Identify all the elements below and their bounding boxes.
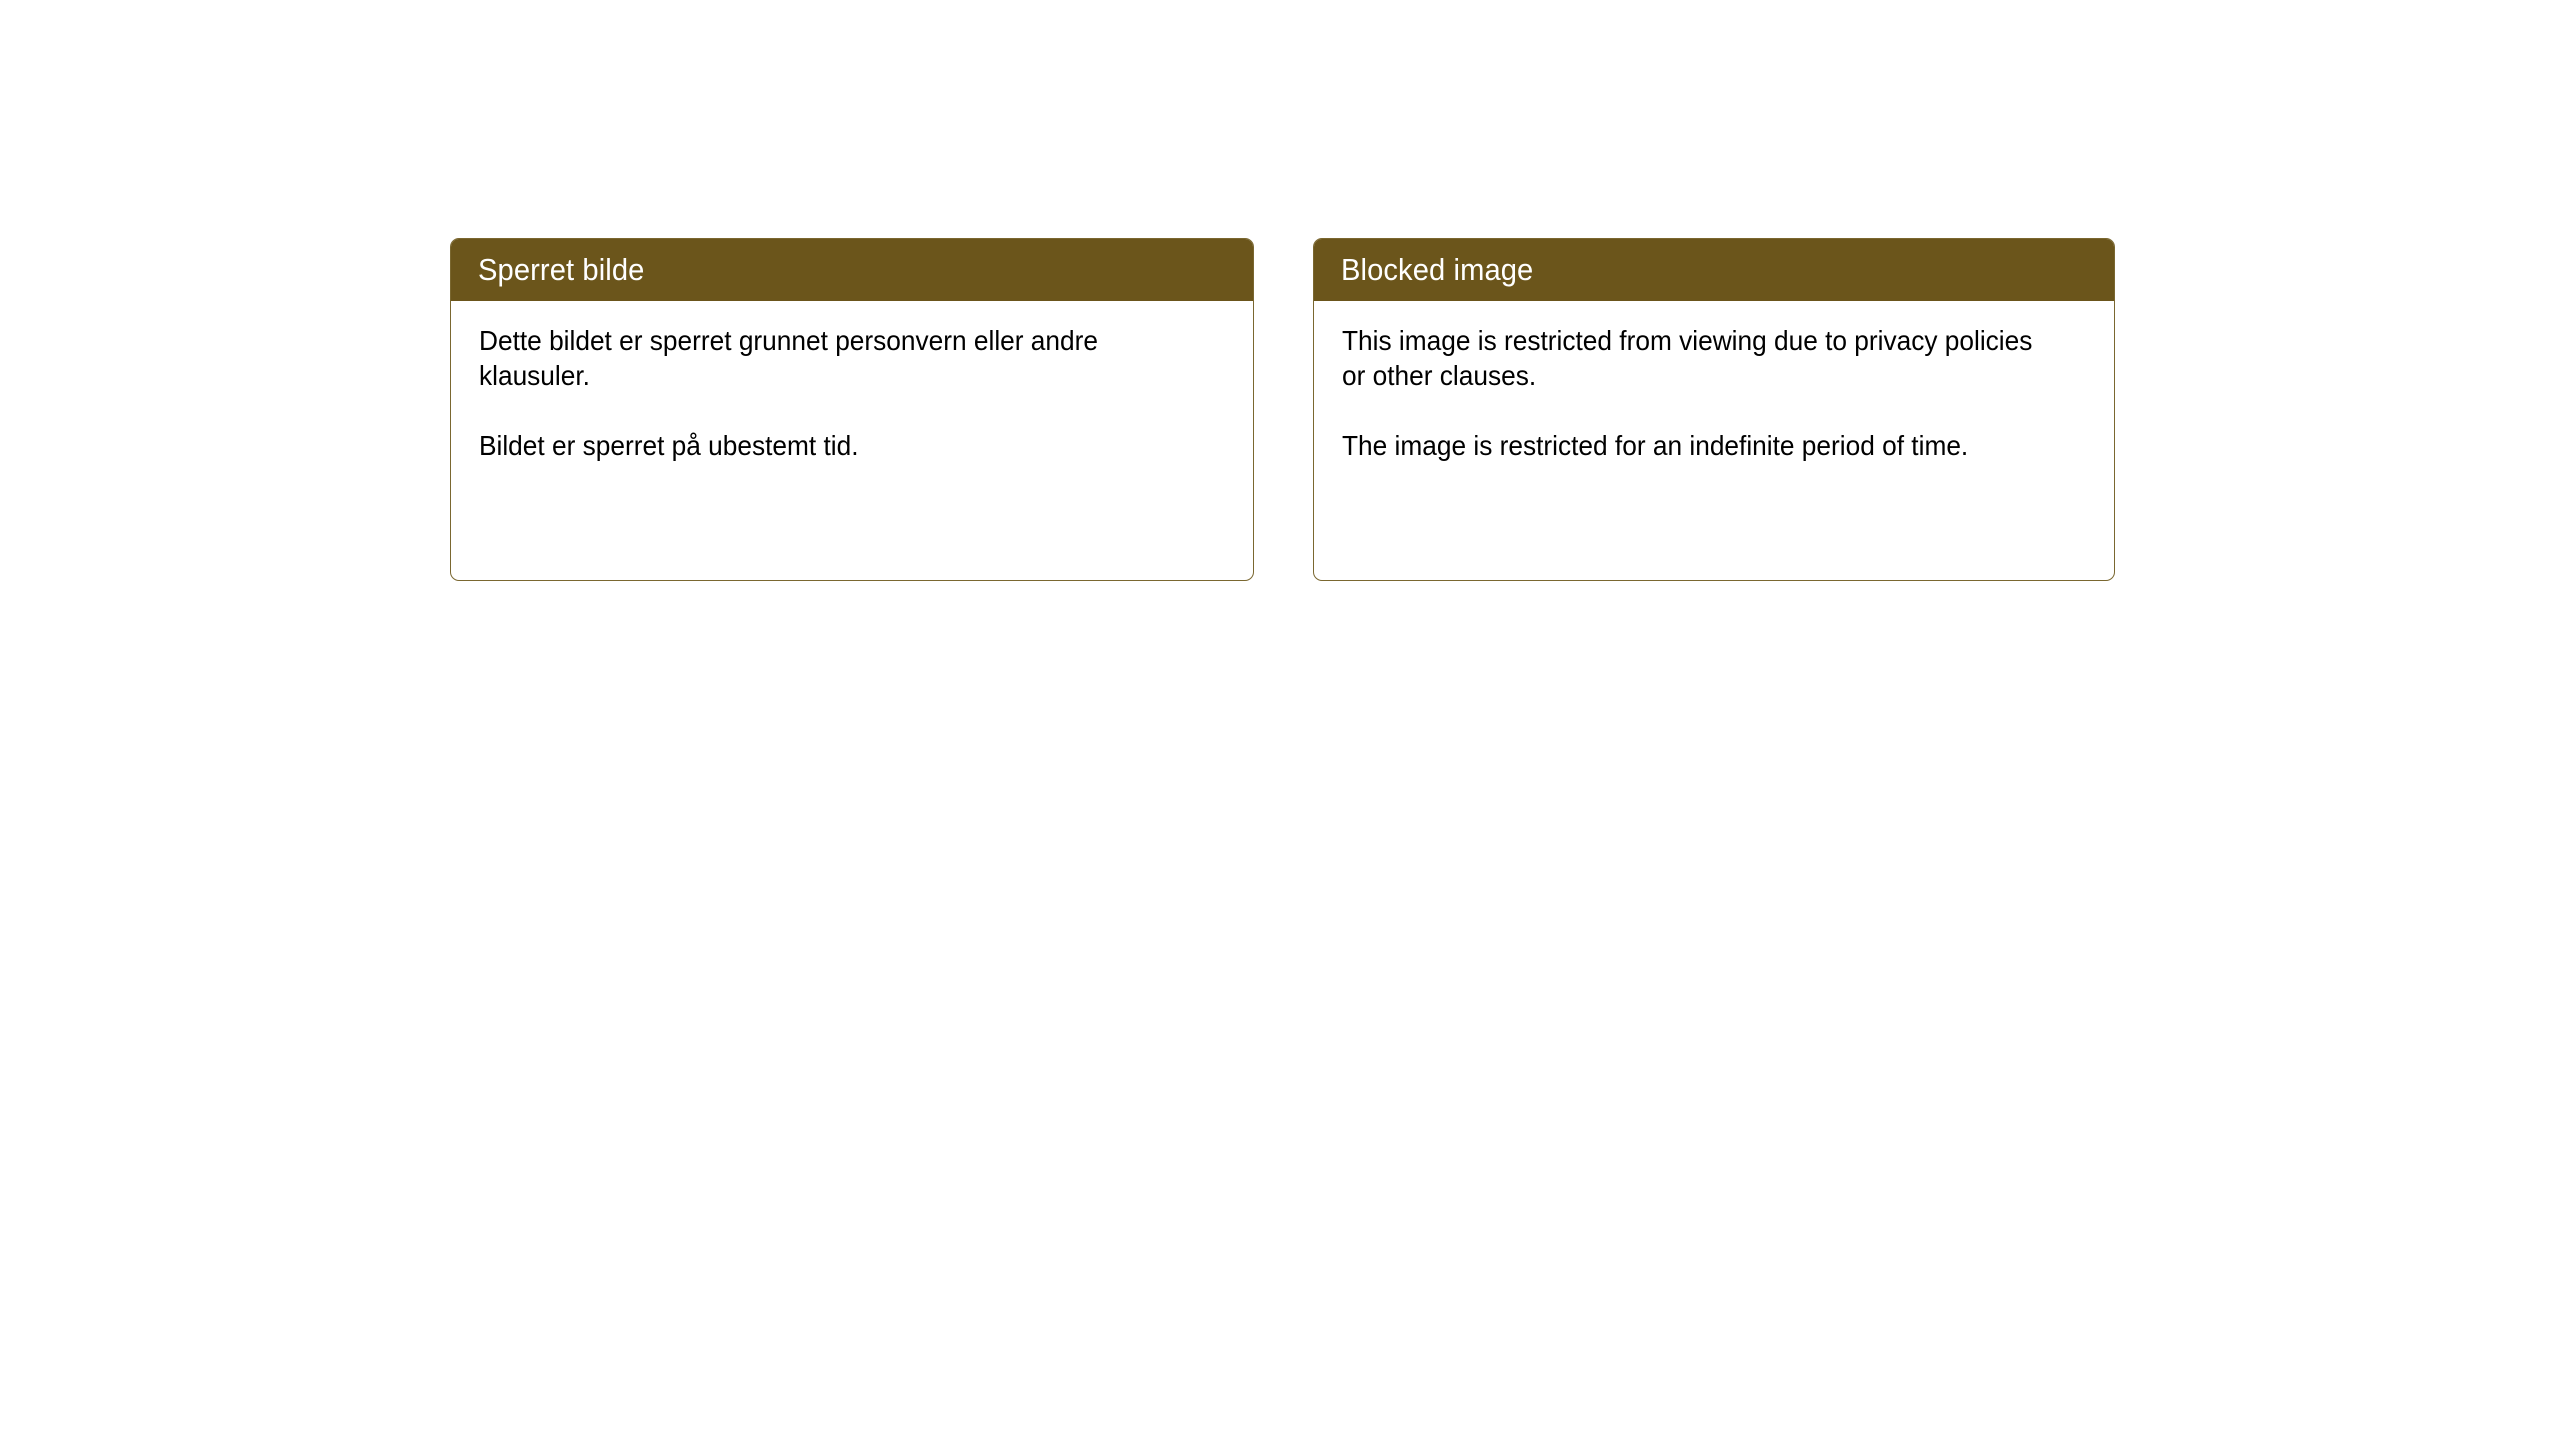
notice-card-title-norwegian: Sperret bilde	[478, 254, 644, 285]
notice-card-header-english: Blocked image	[1313, 238, 2115, 301]
blocked-image-notice-card-english: Blocked image This image is restricted f…	[1313, 238, 2115, 581]
notice-paragraph-reason-norwegian: Dette bildet er sperret grunnet personve…	[479, 323, 1193, 393]
notice-stage: Sperret bilde Dette bildet er sperret gr…	[0, 0, 2560, 1440]
notice-paragraph-duration-norwegian: Bildet er sperret på ubestemt tid.	[479, 428, 1193, 463]
notice-paragraph-reason-english: This image is restricted from viewing du…	[1342, 323, 2054, 393]
notice-card-body-norwegian: Dette bildet er sperret grunnet personve…	[451, 301, 1253, 463]
notice-card-header-norwegian: Sperret bilde	[450, 238, 1254, 301]
notice-card-title-english: Blocked image	[1341, 254, 1533, 285]
notice-card-body-english: This image is restricted from viewing du…	[1314, 301, 2114, 463]
blocked-image-notice-card-norwegian: Sperret bilde Dette bildet er sperret gr…	[450, 238, 1254, 581]
notice-paragraph-duration-english: The image is restricted for an indefinit…	[1342, 428, 2054, 463]
